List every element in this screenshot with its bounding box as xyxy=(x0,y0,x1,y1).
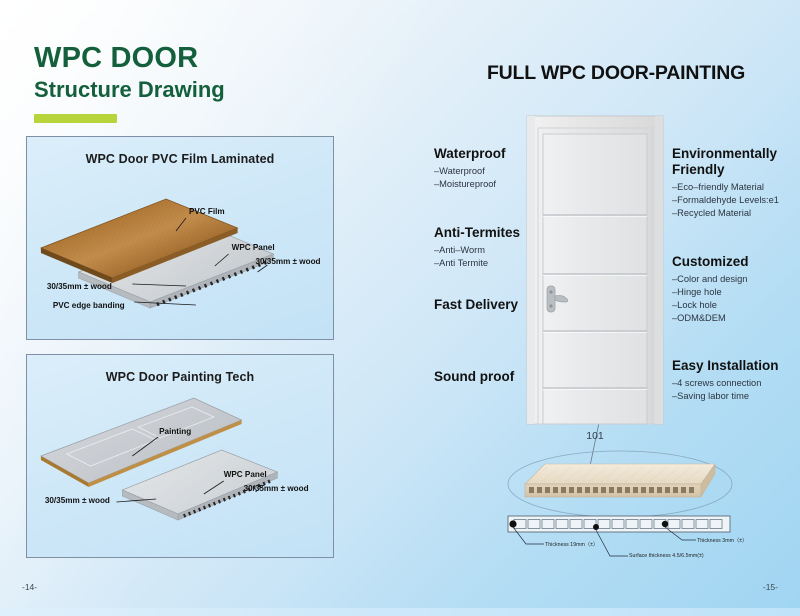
feature-heading: Customized xyxy=(672,254,749,270)
page-subtitle: Structure Drawing xyxy=(34,78,225,101)
feature-item: –Recycled Material xyxy=(672,207,800,220)
feature-item: –Anti Termite xyxy=(434,257,520,270)
label-pvc-film: PVC Film xyxy=(189,207,225,216)
feature-sound-proof: Sound proof xyxy=(434,369,514,385)
feature-heading: Anti-Termites xyxy=(434,225,520,241)
marker-surface-thickness xyxy=(593,524,599,530)
door-model-code: 101 xyxy=(560,430,630,442)
label-wpc-panel: WPC Panel xyxy=(232,243,275,252)
page-number-right: -15- xyxy=(763,582,778,592)
feature-item: –Color and design xyxy=(672,273,749,286)
page-title: WPC DOOR xyxy=(34,44,225,73)
panel-illustration: Painting WPC Panel 30/35mm ± wood 30/35m… xyxy=(27,384,333,544)
feature-item: –Eco–friendly Material xyxy=(672,181,800,194)
feature-items: –4 screws connection –Saving labor time xyxy=(672,377,779,403)
marker-thickness-right xyxy=(662,521,668,527)
right-page-title: FULL WPC DOOR-PAINTING xyxy=(440,62,792,85)
feature-item: –Formaldehyde Levels:e1 xyxy=(672,194,800,207)
feature-items: –Anti–Worm –Anti Termite xyxy=(434,244,520,270)
feature-item: –ODM&DEM xyxy=(672,312,749,325)
feature-heading: Waterproof xyxy=(434,146,506,162)
page-number-left: -14- xyxy=(22,582,37,592)
feature-heading: Fast Delivery xyxy=(434,297,518,313)
feature-item: –Saving labor time xyxy=(672,390,779,403)
label-wood-left: 30/35mm ± wood xyxy=(47,282,112,291)
feature-items: –Waterproof –Moistureproof xyxy=(434,165,506,191)
label-surface-thickness: Surface thickness 4.5/6.5mm(±) xyxy=(629,553,704,559)
label-wood-right: 30/35mm ± wood xyxy=(244,484,309,493)
feature-item: –Hinge hole xyxy=(672,286,749,299)
feature-item: –Moistureproof xyxy=(434,178,506,191)
feature-heading: Environmentally Friendly xyxy=(672,146,800,178)
marker-thickness-left xyxy=(509,520,516,527)
label-thickness-right: Thickness 3mm（±） xyxy=(697,537,747,544)
feature-waterproof: Waterproof –Waterproof –Moistureproof xyxy=(434,146,506,191)
label-wpc-panel: WPC Panel xyxy=(224,470,267,479)
feature-item: –Lock hole xyxy=(672,299,749,312)
label-wood-left: 30/35mm ± wood xyxy=(45,496,110,505)
feature-customized: Customized –Color and design –Hinge hole… xyxy=(672,254,749,326)
diagram-panel-pvc-film: WPC Door PVC Film Laminated xyxy=(26,136,334,340)
feature-item: –Anti–Worm xyxy=(434,244,520,257)
accent-bar xyxy=(34,114,117,123)
panel-illustration: PVC Film WPC Panel 30/35mm ± wood 30/35m… xyxy=(27,166,333,326)
label-wood-right: 30/35mm ± wood xyxy=(256,257,321,266)
door-illustration xyxy=(521,110,669,428)
diagram-panel-painting-tech: WPC Door Painting Tech xyxy=(26,354,334,558)
feature-item: –4 screws connection xyxy=(672,377,779,390)
feature-items: –Eco–friendly Material –Formaldehyde Lev… xyxy=(672,181,800,221)
feature-heading: Sound proof xyxy=(434,369,514,385)
feature-item: –Waterproof xyxy=(434,165,506,178)
left-header: WPC DOOR Structure Drawing xyxy=(34,44,225,123)
panel-title: WPC Door Painting Tech xyxy=(27,370,333,384)
slide-page: WPC DOOR Structure Drawing WPC Door PVC … xyxy=(0,0,800,616)
feature-fast-delivery: Fast Delivery xyxy=(434,297,518,313)
label-thickness-left: Thickness 19mm（±） xyxy=(545,541,598,548)
label-painting: Painting xyxy=(159,427,191,436)
feature-items: –Color and design –Hinge hole –Lock hole… xyxy=(672,273,749,326)
right-header: FULL WPC DOOR-PAINTING xyxy=(440,62,792,85)
panel-title: WPC Door PVC Film Laminated xyxy=(27,152,333,166)
feature-anti-termites: Anti-Termites –Anti–Worm –Anti Termite xyxy=(434,225,520,270)
feature-environmentally-friendly: Environmentally Friendly –Eco–friendly M… xyxy=(672,146,800,220)
feature-easy-installation: Easy Installation –4 screws connection –… xyxy=(672,358,779,403)
wpc-panel-sample xyxy=(505,448,735,520)
label-pvc-edge-banding: PVC edge banding xyxy=(53,301,125,310)
feature-heading: Easy Installation xyxy=(672,358,779,374)
